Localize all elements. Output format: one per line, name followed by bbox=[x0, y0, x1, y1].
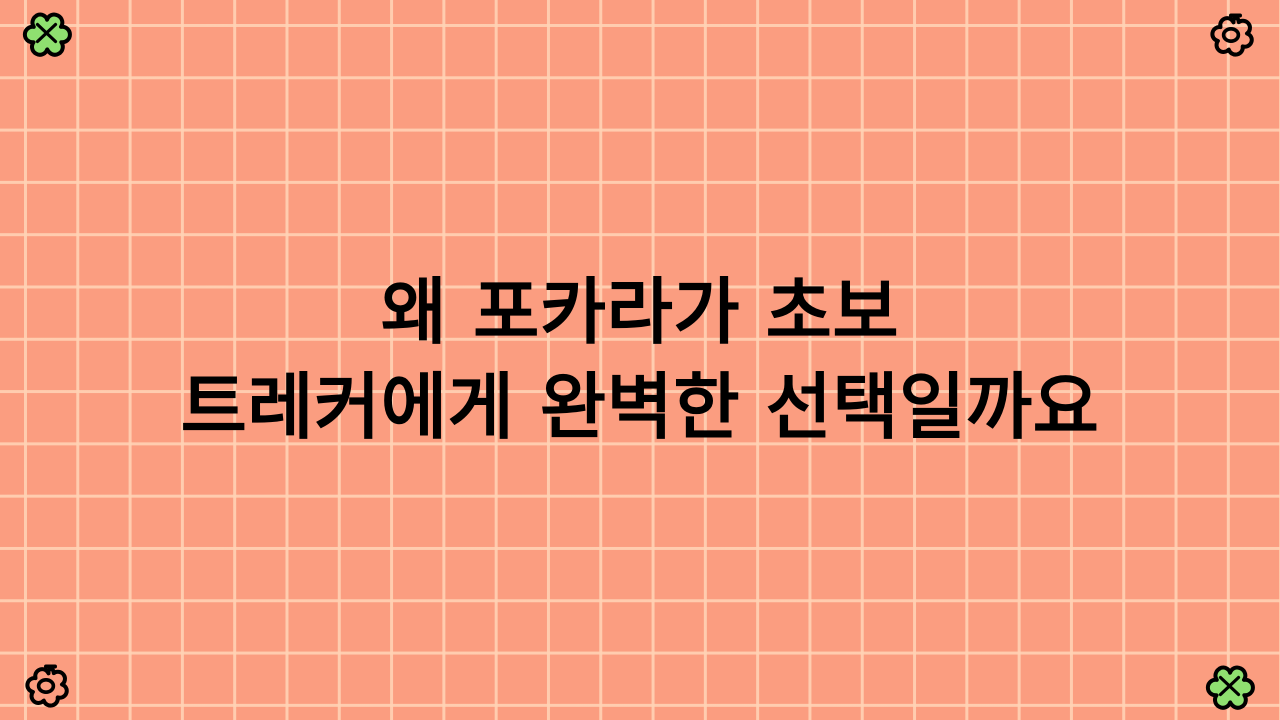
title-line-1: 왜 포카라가 초보 bbox=[381, 270, 899, 354]
page-title: 왜 포카라가 초보 트레커에게 완벽한 선택일까요 bbox=[181, 265, 1100, 455]
title-line-2: 트레커에게 완벽한 선택일까요 bbox=[181, 365, 1100, 449]
poster-canvas: 왜 포카라가 초보 트레커에게 완벽한 선택일까요 bbox=[0, 0, 1280, 720]
title-block: 왜 포카라가 초보 트레커에게 완벽한 선택일까요 bbox=[0, 0, 1280, 720]
